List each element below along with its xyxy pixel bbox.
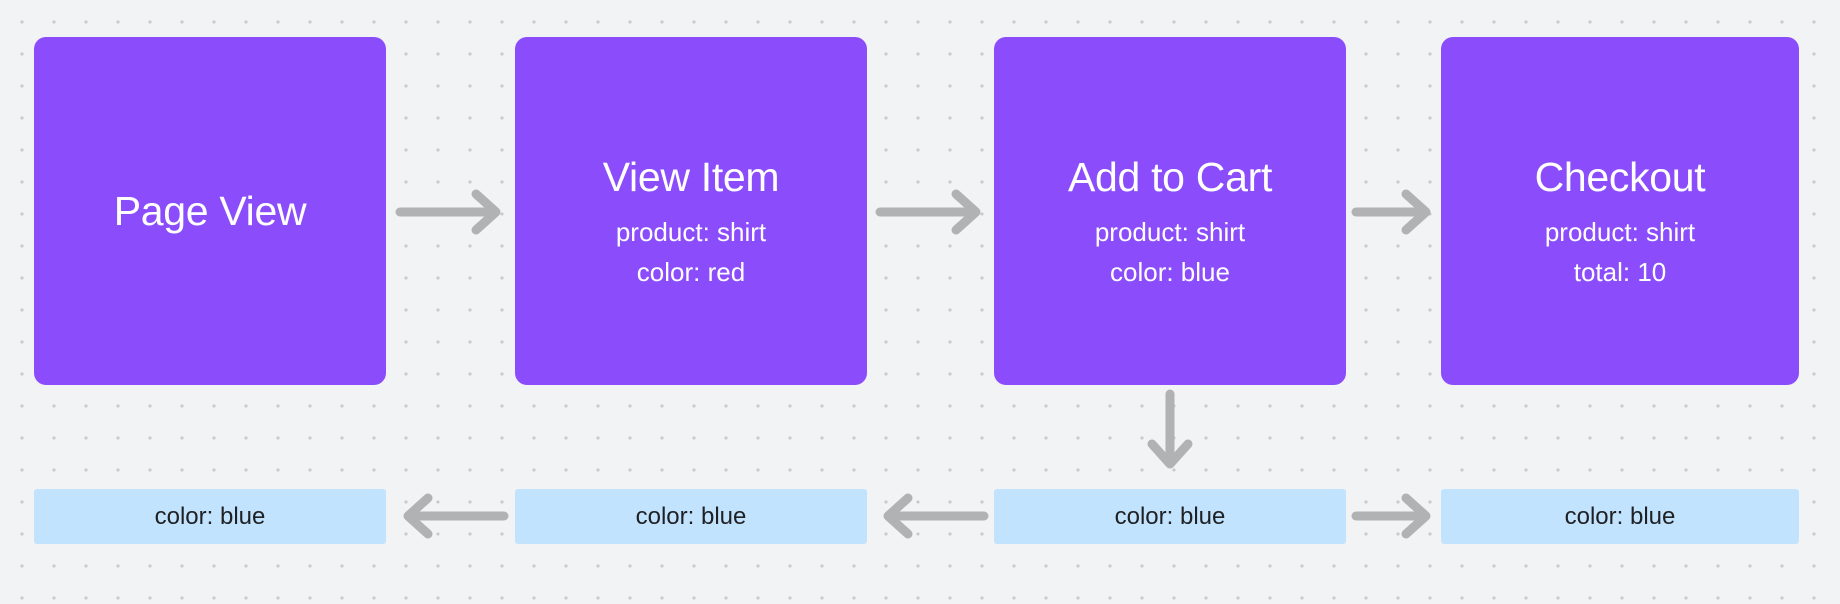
prop-box-color-blue-2[interactable]: color: blue	[515, 489, 867, 544]
flow-node-add-to-cart[interactable]: Add to Cart product: shirt color: blue	[994, 37, 1346, 385]
flow-node-property: color: red	[616, 252, 766, 292]
flow-node-property: product: shirt	[1095, 212, 1245, 252]
flow-node-property: total: 10	[1545, 252, 1695, 292]
prop-box-label: color: blue	[636, 503, 747, 531]
arrow-prop-box-3-to-prop-box-2	[876, 492, 988, 540]
flow-node-property: product: shirt	[1545, 212, 1695, 252]
flow-node-checkout[interactable]: Checkout product: shirt total: 10	[1441, 37, 1799, 385]
prop-box-color-blue-4[interactable]: color: blue	[1441, 489, 1799, 544]
prop-box-color-blue-1[interactable]: color: blue	[34, 489, 386, 544]
arrow-add-to-cart-to-checkout	[1352, 188, 1438, 236]
prop-box-label: color: blue	[1565, 503, 1676, 531]
flow-node-title: Checkout	[1535, 157, 1706, 198]
flow-node-view-item[interactable]: View Item product: shirt color: red	[515, 37, 867, 385]
flow-node-title: Page View	[114, 191, 307, 232]
arrow-prop-box-3-to-prop-box-4	[1352, 492, 1438, 540]
flow-node-page-view[interactable]: Page View	[34, 37, 386, 385]
flow-node-property: color: blue	[1095, 252, 1245, 292]
flow-node-properties: product: shirt color: red	[616, 212, 766, 293]
flow-node-title: Add to Cart	[1068, 157, 1272, 198]
prop-box-color-blue-3[interactable]: color: blue	[994, 489, 1346, 544]
arrow-add-to-cart-down-to-prop-box-3	[1146, 390, 1194, 476]
flow-node-properties: product: shirt color: blue	[1095, 212, 1245, 293]
arrow-view-item-to-add-to-cart	[876, 188, 988, 236]
arrow-prop-box-2-to-prop-box-1	[396, 492, 508, 540]
prop-box-label: color: blue	[1115, 503, 1226, 531]
arrow-page-view-to-view-item	[396, 188, 508, 236]
prop-box-label: color: blue	[155, 503, 266, 531]
flow-node-properties: product: shirt total: 10	[1545, 212, 1695, 293]
flow-canvas[interactable]: Page View View Item product: shirt color…	[0, 0, 1840, 604]
flow-node-title: View Item	[603, 157, 780, 198]
flow-node-property: product: shirt	[616, 212, 766, 252]
